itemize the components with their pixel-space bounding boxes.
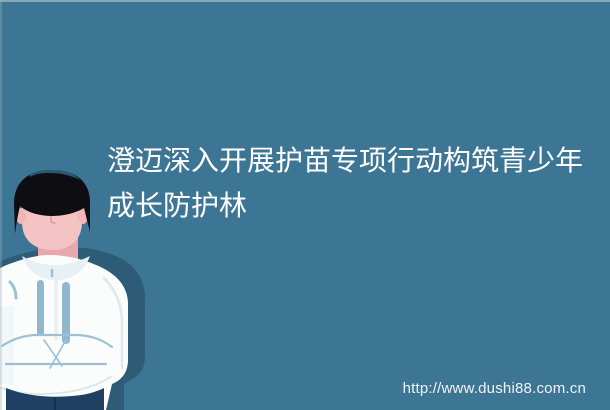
drawstring-left (37, 280, 44, 336)
headline-text: 澄迈深入开展护苗专项行动构筑青少年成长防护林 (107, 138, 587, 228)
left-edge-line (0, 0, 2, 410)
top-edge-line (0, 0, 610, 2)
article-banner: 澄迈深入开展护苗专项行动构筑青少年成长防护林 http://www.dushi8… (0, 0, 610, 410)
site-url-watermark: http://www.dushi88.com.cn (403, 380, 586, 398)
